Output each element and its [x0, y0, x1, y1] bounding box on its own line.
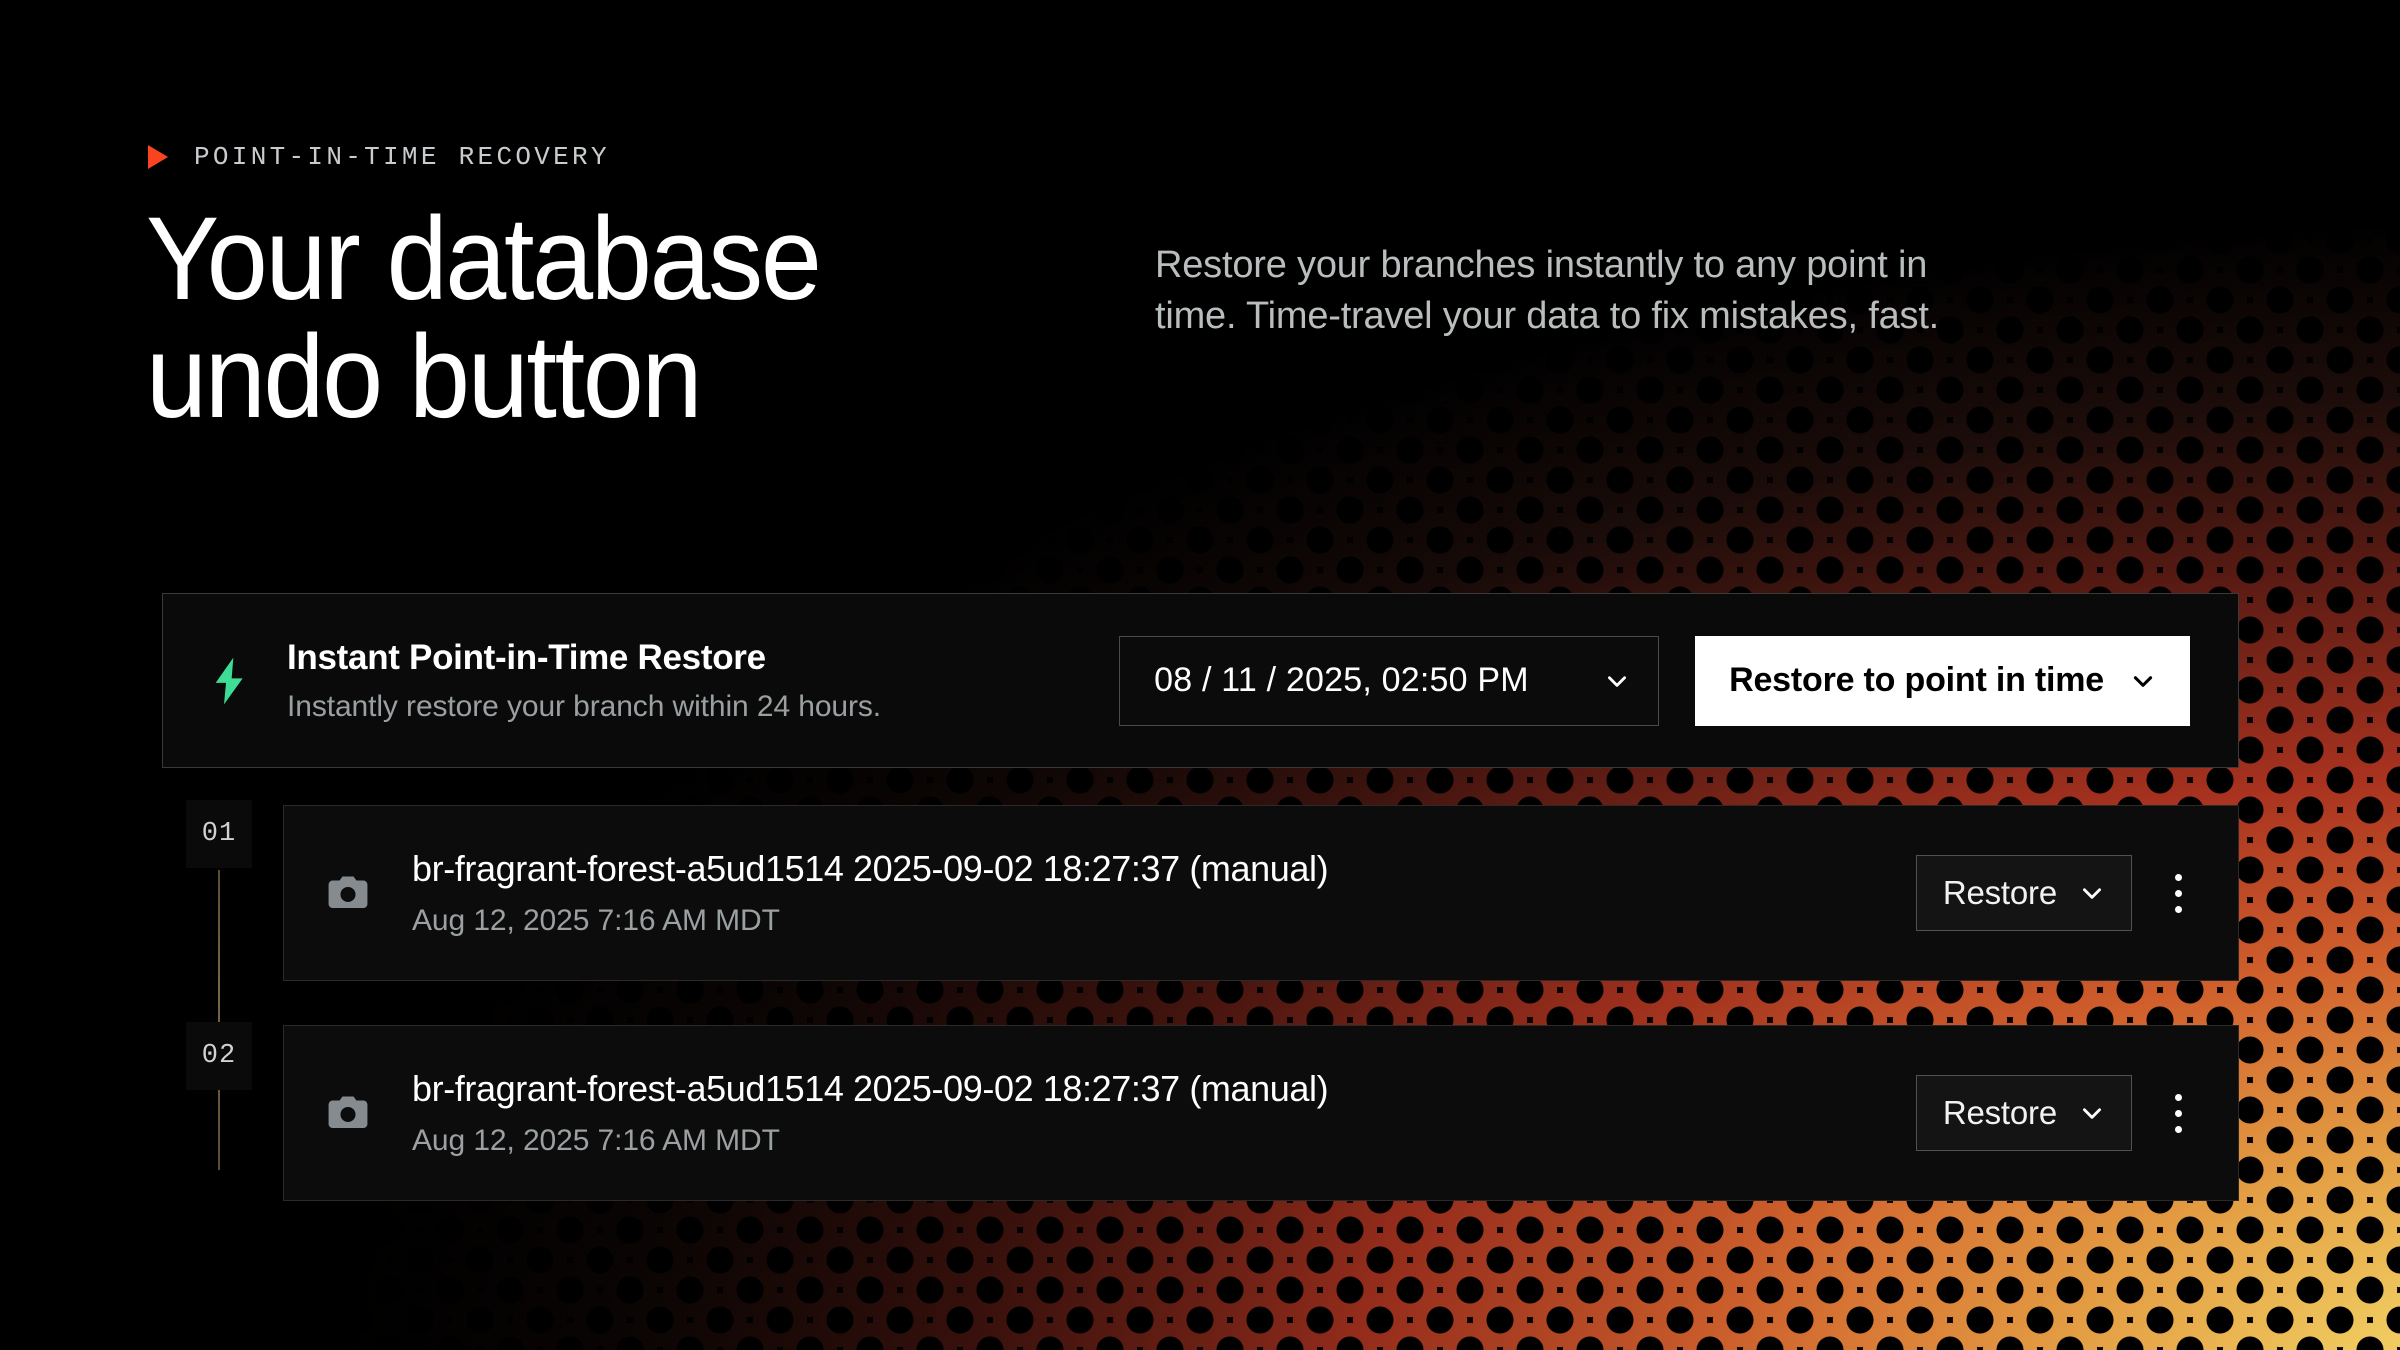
- restore-to-point-in-time-button[interactable]: Restore to point in time: [1695, 636, 2190, 726]
- eyebrow-label: POINT-IN-TIME RECOVERY: [194, 142, 610, 172]
- chevron-down-icon: [1604, 668, 1630, 694]
- page-title: Your database undo button: [146, 200, 820, 436]
- restore-button[interactable]: Restore: [1916, 855, 2132, 931]
- eyebrow: POINT-IN-TIME RECOVERY: [148, 142, 610, 172]
- timeline-index-01: 01: [186, 800, 252, 868]
- instant-restore-texts: Instant Point-in-Time Restore Instantly …: [287, 638, 881, 724]
- instant-restore-title: Instant Point-in-Time Restore: [287, 638, 881, 678]
- timeline-index-02: 02: [186, 1022, 252, 1090]
- lightning-bolt-icon: [193, 657, 265, 705]
- snapshot-actions: Restore: [1916, 855, 2204, 931]
- snapshot-row[interactable]: br-fragrant-forest-a5ud1514 2025-09-02 1…: [283, 1025, 2239, 1201]
- restore-to-point-in-time-label: Restore to point in time: [1729, 661, 2104, 700]
- timeline-connector-line: [218, 870, 220, 1170]
- camera-icon: [326, 871, 370, 915]
- chevron-down-icon: [2079, 880, 2105, 906]
- date-time-picker-value: 08 / 11 / 2025, 02:50 PM: [1154, 661, 1529, 700]
- instant-restore-card: Instant Point-in-Time Restore Instantly …: [162, 593, 2239, 768]
- play-triangle-icon: [148, 145, 168, 169]
- instant-restore-actions: 08 / 11 / 2025, 02:50 PM Restore to poin…: [1119, 636, 2208, 726]
- snapshot-timestamp: Aug 12, 2025 7:16 AM MDT: [412, 1124, 1328, 1158]
- snapshot-timeline: 01 02: [186, 810, 252, 1230]
- snapshot-title: br-fragrant-forest-a5ud1514 2025-09-02 1…: [412, 1068, 1328, 1110]
- instant-restore-subtitle: Instantly restore your branch within 24 …: [287, 690, 881, 724]
- snapshot-title: br-fragrant-forest-a5ud1514 2025-09-02 1…: [412, 848, 1328, 890]
- hero-description: Restore your branches instantly to any p…: [1155, 240, 1965, 341]
- kebab-menu-icon[interactable]: [2152, 855, 2204, 931]
- snapshot-row[interactable]: br-fragrant-forest-a5ud1514 2025-09-02 1…: [283, 805, 2239, 981]
- date-time-picker[interactable]: 08 / 11 / 2025, 02:50 PM: [1119, 636, 1659, 726]
- snapshot-texts: br-fragrant-forest-a5ud1514 2025-09-02 1…: [412, 848, 1328, 938]
- camera-icon: [326, 1091, 370, 1135]
- chevron-down-icon: [2130, 668, 2156, 694]
- restore-button[interactable]: Restore: [1916, 1075, 2132, 1151]
- restore-button-label: Restore: [1943, 1094, 2057, 1132]
- kebab-menu-icon[interactable]: [2152, 1075, 2204, 1151]
- snapshot-actions: Restore: [1916, 1075, 2204, 1151]
- snapshot-texts: br-fragrant-forest-a5ud1514 2025-09-02 1…: [412, 1068, 1328, 1158]
- snapshot-timestamp: Aug 12, 2025 7:16 AM MDT: [412, 904, 1328, 938]
- page-root: POINT-IN-TIME RECOVERY Your database und…: [0, 0, 2400, 1350]
- chevron-down-icon: [2079, 1100, 2105, 1126]
- restore-button-label: Restore: [1943, 874, 2057, 912]
